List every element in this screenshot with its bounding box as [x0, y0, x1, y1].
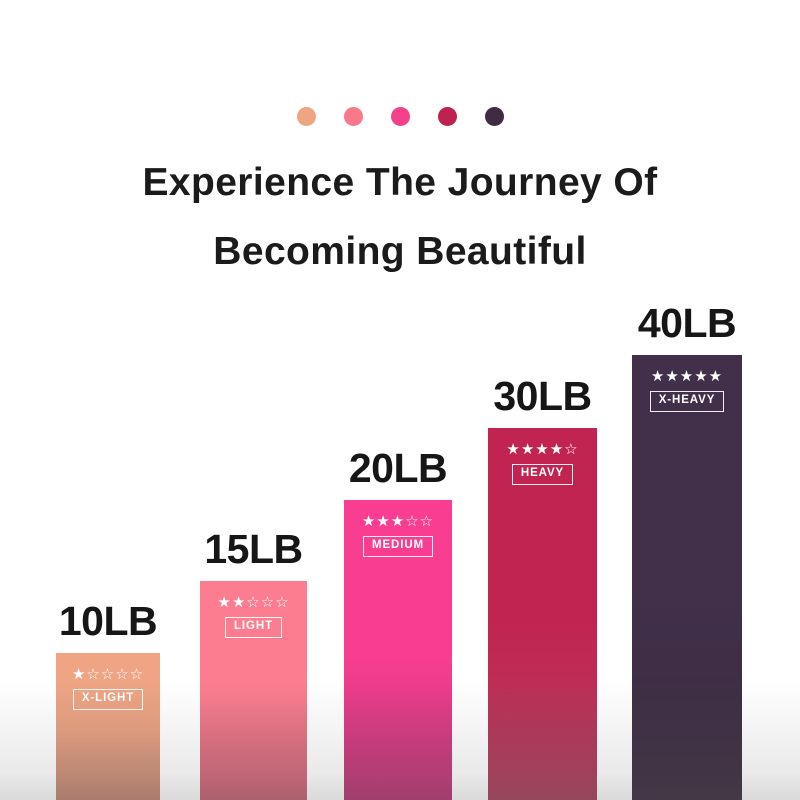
star-rating: ★☆☆☆☆ — [72, 667, 144, 682]
star-rating: ★★★★☆ — [506, 442, 578, 457]
bar-rect: ★★★☆☆MEDIUM — [344, 500, 452, 800]
resistance-level-badge: X-LIGHT — [73, 689, 143, 710]
bar-badge: ★★★★★X-HEAVY — [632, 369, 742, 412]
star-rating: ★★☆☆☆ — [217, 595, 289, 610]
resistance-level-badge: X-HEAVY — [650, 391, 725, 412]
resistance-level-badge: HEAVY — [512, 464, 573, 485]
star-rating: ★★★★★ — [651, 369, 723, 384]
bar-badge: ★★★☆☆MEDIUM — [344, 514, 452, 557]
bar-group-heavy[interactable]: 30LB★★★★☆HEAVY — [488, 428, 597, 800]
bar-group-medium[interactable]: 20LB★★★☆☆MEDIUM — [344, 500, 452, 800]
bar-group-x-heavy[interactable]: 40LB★★★★★X-HEAVY — [632, 355, 742, 800]
bar-badge: ★★★★☆HEAVY — [488, 442, 597, 485]
bar-rect: ★☆☆☆☆X-LIGHT — [56, 653, 160, 800]
bar-rect: ★★★★☆HEAVY — [488, 428, 597, 800]
bar-badge: ★★☆☆☆LIGHT — [200, 595, 307, 638]
product-infographic: Experience The Journey Of Becoming Beaut… — [0, 0, 800, 800]
resistance-level-badge: LIGHT — [225, 617, 282, 638]
star-rating: ★★★☆☆ — [362, 514, 434, 529]
bar-weight-label: 20LB — [349, 445, 447, 492]
bar-group-light[interactable]: 15LB★★☆☆☆LIGHT — [200, 581, 307, 800]
bar-group-x-light[interactable]: 10LB★☆☆☆☆X-LIGHT — [56, 653, 160, 800]
bar-rect: ★★★★★X-HEAVY — [632, 355, 742, 800]
resistance-level-bar-chart: 10LB★☆☆☆☆X-LIGHT15LB★★☆☆☆LIGHT20LB★★★☆☆M… — [0, 0, 800, 800]
bar-rect: ★★☆☆☆LIGHT — [200, 581, 307, 800]
bar-weight-label: 30LB — [493, 373, 591, 420]
bar-weight-label: 15LB — [204, 526, 302, 573]
bar-weight-label: 40LB — [638, 300, 736, 347]
bar-badge: ★☆☆☆☆X-LIGHT — [56, 667, 160, 710]
bar-weight-label: 10LB — [59, 598, 157, 645]
resistance-level-badge: MEDIUM — [363, 536, 433, 557]
